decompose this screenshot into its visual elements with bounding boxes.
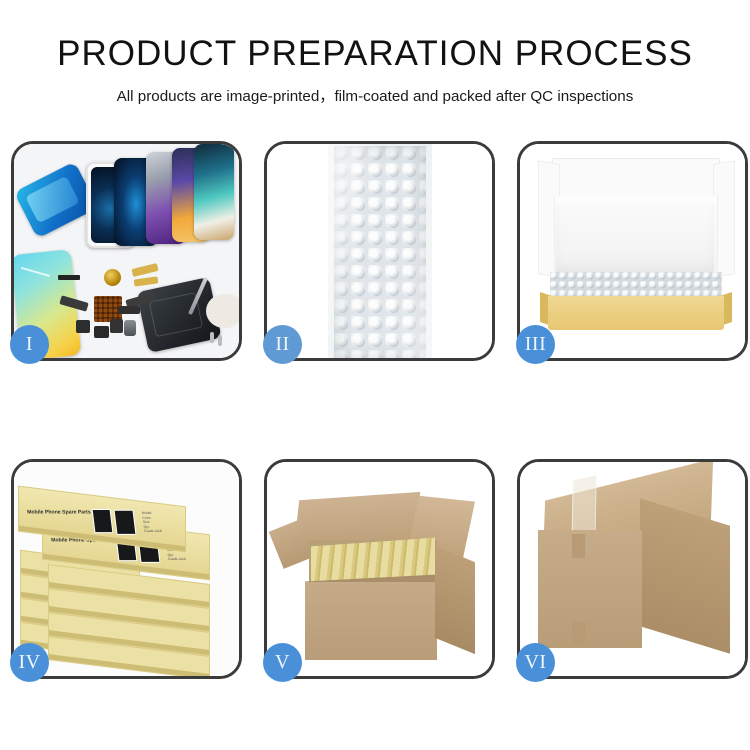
- teal-swirl-phone: [194, 144, 234, 240]
- copper-coil-part: [104, 269, 121, 286]
- sealed-carton-right-panel: [640, 498, 730, 654]
- step-badge-6: VI: [516, 643, 555, 682]
- step-panel-5[interactable]: V: [264, 459, 495, 679]
- step-image-5: [267, 462, 492, 676]
- step-image-6: [520, 462, 745, 676]
- step-badge-3: III: [516, 325, 555, 364]
- inner-box-foam-sheet: [556, 204, 714, 272]
- step-badge-4: IV: [10, 643, 49, 682]
- screw-part-2: [218, 335, 222, 346]
- step-badge-5: V: [263, 643, 302, 682]
- yellow-box-stack: Mobile Phone Spare Parts Model:Color:Siz…: [14, 462, 239, 676]
- carton-right-panel: [435, 546, 475, 654]
- product-preparation-infographic: PRODUCT PREPARATION PROCESS All products…: [0, 0, 750, 750]
- step-panel-1[interactable]: I: [11, 141, 242, 361]
- box-label-top: Mobile Phone Spare Parts: [27, 510, 91, 516]
- step-panel-2[interactable]: II: [264, 141, 495, 361]
- step-panel-4[interactable]: Mobile Phone Spare Parts Model:Color:Siz…: [11, 459, 242, 679]
- step-image-4: Mobile Phone Spare Parts Model:Color:Siz…: [14, 462, 239, 676]
- page-title: PRODUCT PREPARATION PROCESS: [0, 34, 750, 74]
- carton-front-panel: [305, 582, 437, 660]
- small-module-part-1: [76, 320, 90, 333]
- step-image-3: [520, 144, 745, 358]
- screw-part-1: [210, 332, 214, 343]
- box-art-screen-4: [114, 510, 137, 535]
- step-image-2: [267, 144, 492, 358]
- carton-seam-lower: [572, 622, 585, 644]
- step-badge-2: II: [263, 325, 302, 364]
- box-art-screen-3: [92, 509, 114, 533]
- step-panel-3[interactable]: III: [517, 141, 748, 361]
- small-module-part-2: [110, 319, 123, 333]
- connector-part: [118, 306, 140, 314]
- camera-module-part: [124, 320, 136, 336]
- speaker-part: [58, 275, 80, 280]
- page-subtitle: All products are image-printed，film-coat…: [0, 84, 750, 106]
- step-badge-1: I: [10, 325, 49, 364]
- step-image-1: [14, 144, 239, 358]
- box-spec-top: Model:Color:Size:Qty:Grade: AAA: [142, 511, 163, 534]
- inner-box-front-panel: [548, 296, 724, 330]
- bubble-wrap-gloss: [328, 144, 432, 358]
- small-module-part-3: [94, 326, 109, 338]
- carton-seam-upper: [572, 534, 585, 558]
- sealed-carton-front-panel: [538, 530, 642, 648]
- steps-grid: I II: [11, 141, 739, 679]
- step-panel-6[interactable]: VI: [517, 459, 748, 679]
- hand-silhouette: [206, 294, 239, 328]
- header: PRODUCT PREPARATION PROCESS All products…: [0, 34, 750, 106]
